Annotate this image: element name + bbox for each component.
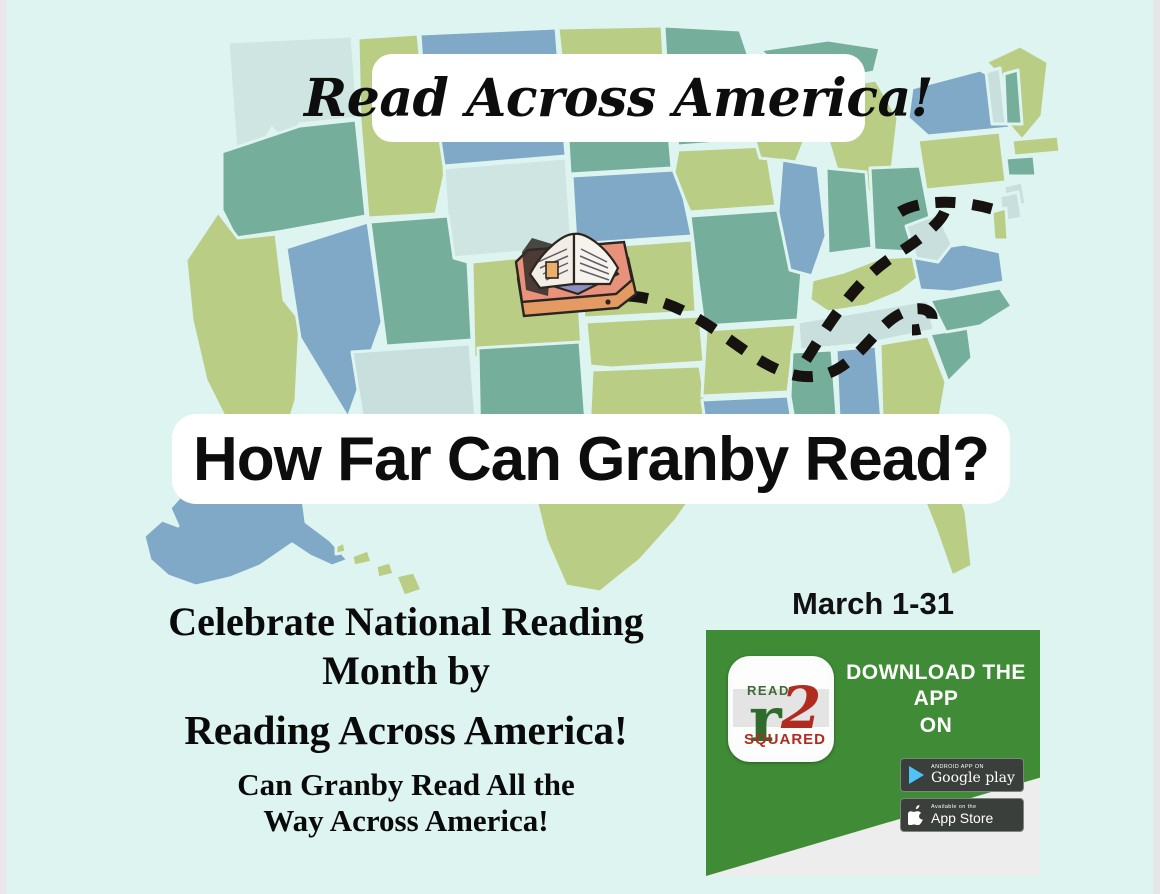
google-play-badge-text: ANDROID APP ON Google play — [931, 765, 1015, 786]
title-text: Read Across America! — [304, 68, 933, 129]
body-copy: Celebrate National Reading Month by Read… — [96, 600, 716, 839]
left-edge-strip — [0, 0, 7, 894]
right-edge-strip — [1153, 0, 1160, 894]
app-store-badge[interactable]: Available on the App Store — [900, 798, 1024, 832]
google-play-badge-bottom: Google play — [931, 771, 1015, 785]
download-cta-line-2: on — [920, 714, 953, 737]
google-play-icon — [901, 766, 931, 784]
apple-icon — [901, 805, 931, 825]
headline-text: How Far Can Granby Read? — [193, 424, 989, 495]
app-icon-squared-text: SQUARED — [744, 731, 826, 748]
download-cta: Download the app on — [846, 660, 1026, 739]
app-store-badge-text: Available on the App Store — [931, 805, 993, 826]
copy-line-2: Month by — [96, 649, 716, 694]
app-icon-2-glyph: 2 — [781, 679, 821, 737]
date-range-label: March 1-31 — [706, 586, 1040, 622]
app-promo-panel: READ r 2 SQUARED Download the app on AND… — [706, 630, 1040, 876]
store-badges: ANDROID APP ON Google play Available on … — [900, 758, 1022, 838]
app-icon-inner: READ r 2 SQUARED — [733, 661, 829, 757]
google-play-badge[interactable]: ANDROID APP ON Google play — [900, 758, 1024, 792]
copy-line-1: Celebrate National Reading — [96, 600, 716, 645]
headline-banner: How Far Can Granby Read? — [172, 414, 1010, 504]
copy-line-3: Reading Across America! — [96, 708, 716, 754]
title-banner: Read Across America! — [372, 54, 865, 142]
app-store-badge-bottom: App Store — [931, 811, 993, 825]
poster-canvas: .st{stroke:#ddf4f1;stroke-width:3;stroke… — [0, 0, 1160, 894]
read-squared-app-icon[interactable]: READ r 2 SQUARED — [728, 656, 834, 762]
copy-line-5: Way Across America! — [96, 804, 716, 839]
copy-line-4: Can Granby Read All the — [96, 768, 716, 803]
download-cta-line-1: Download the app — [846, 661, 1026, 710]
